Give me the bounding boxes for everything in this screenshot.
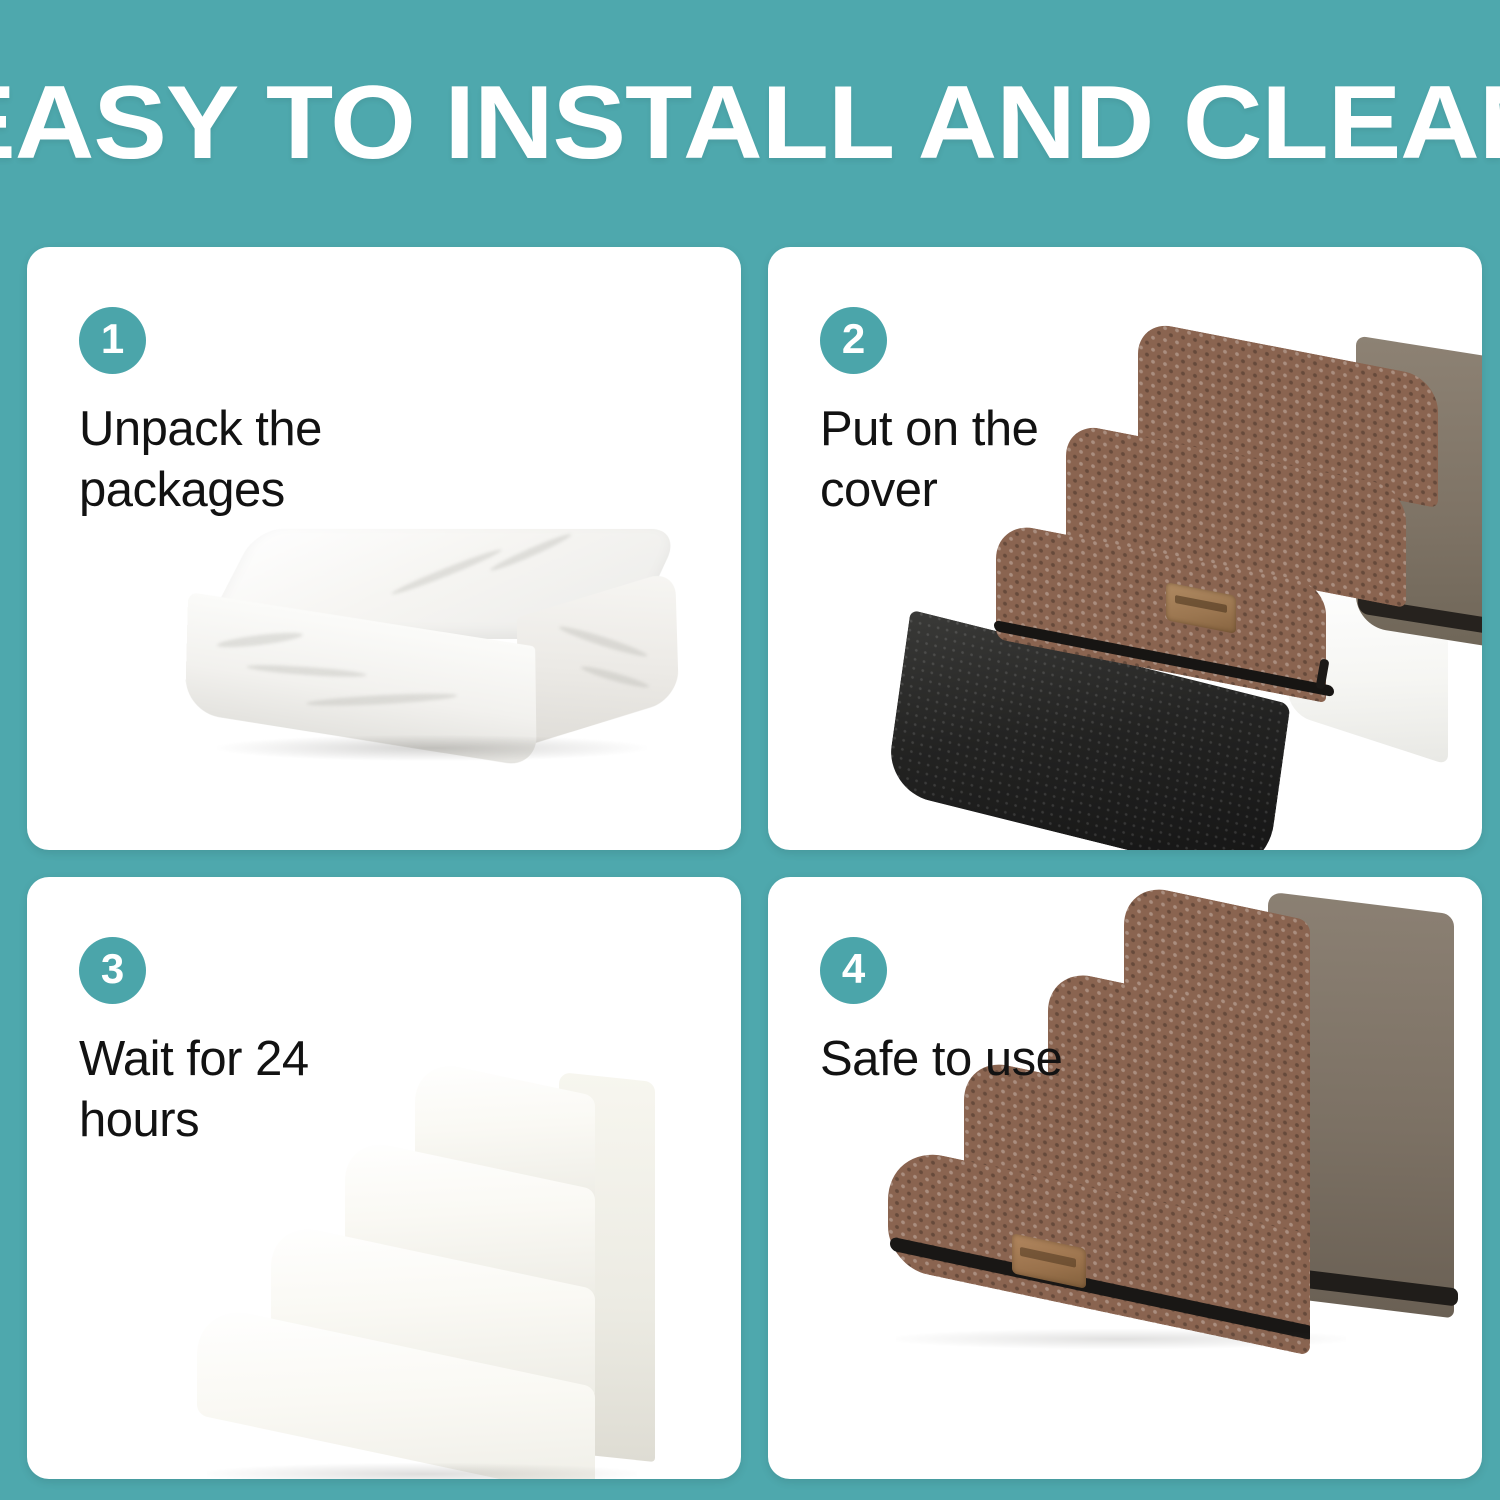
- step-card-2: 2 Put on the cover: [768, 247, 1482, 850]
- zipper-pull: [1315, 658, 1329, 689]
- package-front-face: [185, 592, 537, 768]
- plastic-wrinkle: [580, 663, 650, 690]
- cover-step-front: [996, 521, 1326, 703]
- plastic-wrinkle: [558, 623, 649, 660]
- header-banner: EASY TO INSTALL AND CLEAN: [0, 0, 1500, 247]
- plastic-wrinkle: [246, 663, 367, 679]
- cover-step-top: [1138, 320, 1438, 508]
- cover-side-panel: [1356, 335, 1482, 656]
- steps-grid: 1 Unpack the packages 2 Put on the cover: [27, 247, 1482, 1479]
- step-caption-1: Unpack the packages: [79, 399, 409, 521]
- leather-brand-tag: [1166, 582, 1236, 634]
- black-nonslip-bottom: [885, 610, 1290, 850]
- foam-ground-shadow: [207, 1463, 637, 1480]
- stairs-front-base-trim: [890, 1236, 1310, 1339]
- white-foam-exposed: [1288, 573, 1448, 765]
- stairs-step-1: [888, 1144, 1310, 1356]
- plastic-wrinkle: [217, 630, 304, 650]
- step-card-1: 1 Unpack the packages: [27, 247, 741, 850]
- foam-step-2: [271, 1220, 595, 1393]
- stairs-side-base-trim: [1268, 1265, 1458, 1306]
- step-card-4: 4 Safe to use: [768, 877, 1482, 1480]
- package-block: [184, 529, 660, 743]
- finished-pet-stairs: [886, 889, 1446, 1359]
- foam-step-4: [415, 1057, 595, 1199]
- foam-step-3: [345, 1136, 595, 1293]
- stairs-side-panel: [1268, 891, 1454, 1318]
- plastic-wrinkle: [489, 531, 573, 574]
- package-side-face: [517, 569, 679, 748]
- page-title: EASY TO INSTALL AND CLEAN: [0, 64, 1500, 183]
- stairs-step-4: [1124, 881, 1310, 1035]
- plastic-wrinkle: [390, 546, 503, 597]
- cover-side-bottom-trim: [1358, 597, 1482, 645]
- step-caption-4: Safe to use: [820, 1029, 1150, 1090]
- step-caption-2: Put on the cover: [820, 399, 1150, 521]
- package-top-face: [200, 529, 682, 639]
- step-number-badge-4: 4: [820, 937, 887, 1004]
- step-caption-3: Wait for 24 hours: [79, 1029, 409, 1151]
- step-number-badge-2: 2: [820, 307, 887, 374]
- zipper-track: [994, 620, 1334, 697]
- step-number-badge-1: 1: [79, 307, 146, 374]
- plastic-wrinkle: [306, 691, 457, 708]
- step-number-badge-3: 3: [79, 937, 146, 1004]
- foam-side-panel: [559, 1071, 655, 1461]
- foam-step-1: [197, 1302, 595, 1479]
- stairs-ground-shadow: [896, 1329, 1346, 1349]
- package-ground-shadow: [217, 735, 647, 761]
- leather-brand-tag: [1012, 1233, 1086, 1289]
- step-card-3: 24 3 Wait for 24 hours: [27, 877, 741, 1480]
